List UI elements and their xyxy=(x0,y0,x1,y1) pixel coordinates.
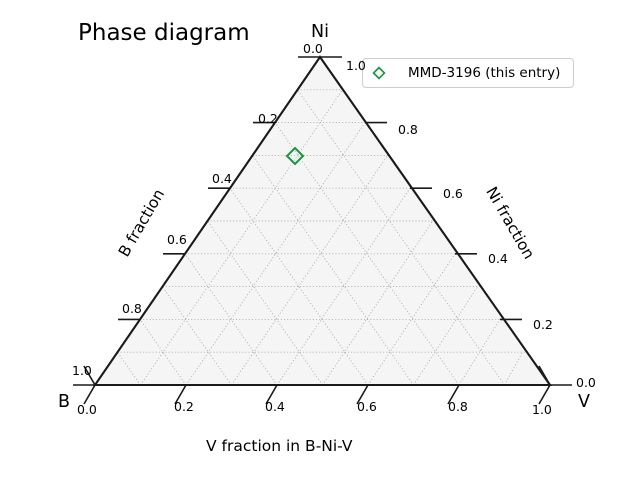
tick-label-left-0: 0.2 xyxy=(258,111,278,126)
tick-label-right-2: 0.4 xyxy=(488,251,508,266)
tick-label-right-0: 0.8 xyxy=(398,122,418,137)
apex-label-b: B xyxy=(58,392,70,412)
bottom-axis-title: V fraction in B-Ni-V xyxy=(206,437,352,455)
tick-label-left-1: 0.4 xyxy=(212,171,232,186)
tick-label-left-3: 0.8 xyxy=(122,301,142,316)
tick-label-bottom-3: 0.8 xyxy=(448,399,468,414)
tick-label-right-0: 0.0 xyxy=(576,375,596,390)
legend-item-label: MMD-3196 (this entry) xyxy=(408,65,560,81)
apex-label-v: V xyxy=(578,392,590,412)
legend[interactable]: MMD-3196 (this entry) xyxy=(362,58,574,88)
tick-label-left-1: 1.0 xyxy=(72,363,92,378)
tick-label-bottom-1: 1.0 xyxy=(532,402,552,417)
tick-label-right-1: 1.0 xyxy=(346,58,366,73)
ternary-phase-diagram-figure: Phase diagram MMD-3196 (this entry) Ni B… xyxy=(0,0,640,480)
page-title: Phase diagram xyxy=(78,20,250,46)
apex-label-ni: Ni xyxy=(311,22,329,42)
tick-label-bottom-2: 0.6 xyxy=(357,399,377,414)
plot-area-fill xyxy=(95,57,550,385)
tick-label-bottom-1: 0.4 xyxy=(265,399,285,414)
tick-label-bottom-0: 0.0 xyxy=(77,402,97,417)
tick-label-left-0: 0.0 xyxy=(303,41,323,56)
tick-label-left-2: 0.6 xyxy=(167,232,187,247)
tick-label-bottom-0: 0.2 xyxy=(174,399,194,414)
diamond-open-icon xyxy=(372,66,386,80)
tick-label-right-3: 0.2 xyxy=(533,317,553,332)
tick-label-right-1: 0.6 xyxy=(443,186,463,201)
